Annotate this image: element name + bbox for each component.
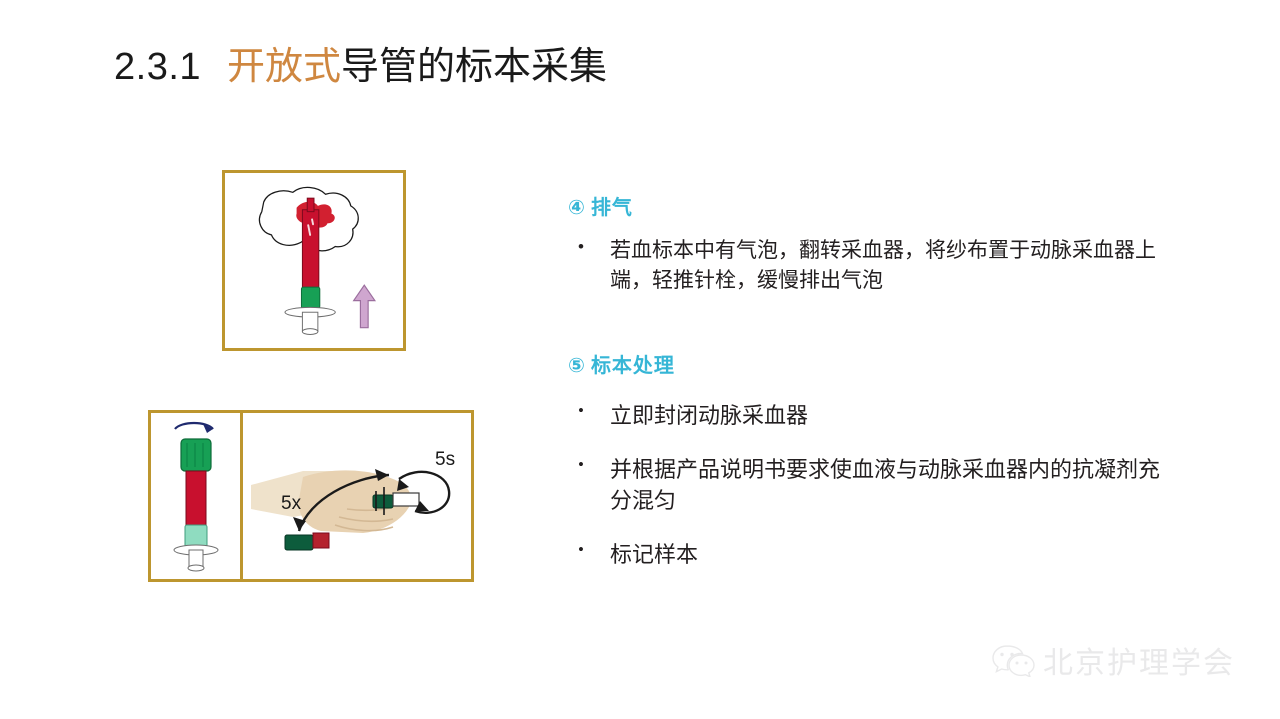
bullet-list-venting: 若血标本中有气泡，翻转采血器，将纱布置于动脉采血器上端，轻推针栓，缓慢排出气泡 xyxy=(568,236,1180,296)
section-heading-venting: ④排气 xyxy=(568,196,1180,220)
section-title-4: 排气 xyxy=(591,197,633,219)
hand-rolling-illustration: 5x 5s xyxy=(243,413,471,579)
watermark: 北京护理学会 xyxy=(992,638,1235,682)
wechat-eye-4 xyxy=(1025,662,1028,665)
section-handling: ⑤标本处理 立即封闭动脉采血器 并根据产品说明书要求使血液与动脉采血器内的抗凝剂… xyxy=(568,354,1180,572)
wechat-eye-1 xyxy=(1000,653,1003,656)
section-venting: ④排气 若血标本中有气泡，翻转采血器，将纱布置于动脉采血器上端，轻推针栓，缓慢排… xyxy=(568,196,1180,296)
plunger-head xyxy=(185,525,207,547)
section-marker-4: ④ xyxy=(568,197,586,219)
content-column: ④排气 若血标本中有气泡，翻转采血器，将纱布置于动脉采血器上端，轻推针栓，缓慢排… xyxy=(568,196,1180,571)
section-marker-5: ⑤ xyxy=(568,355,586,377)
list-item: 立即封闭动脉采血器 xyxy=(568,400,1180,432)
syringe-venting-illustration xyxy=(225,173,403,348)
title-rest: 导管的标本采集 xyxy=(341,46,607,88)
title-highlight: 开放式 xyxy=(227,46,341,88)
list-item: 标记样本 xyxy=(568,539,1180,571)
label-roll-seconds: 5s xyxy=(435,449,455,470)
watermark-text: 北京护理学会 xyxy=(1043,638,1235,682)
syringe-body-clear xyxy=(393,493,419,506)
syringe-cap xyxy=(181,439,211,471)
syringe-body-green-2 xyxy=(285,535,313,550)
figure-syringe-venting xyxy=(222,170,406,351)
panel-hand-rolling: 5x 5s xyxy=(243,413,471,579)
syringe-barrel-blood xyxy=(302,210,318,293)
panel-capped-syringe xyxy=(151,413,243,579)
plunger-head xyxy=(301,287,319,308)
figure-mixing-sample: 5x 5s xyxy=(148,410,474,582)
plunger-thumb-rest xyxy=(302,329,317,335)
capped-syringe-illustration xyxy=(151,413,240,579)
slide-canvas: 2.3.1开放式导管的标本采集 xyxy=(0,0,1280,719)
section-title-5: 标本处理 xyxy=(591,355,675,377)
label-roll-count: 5x xyxy=(281,493,302,514)
wechat-eye-3 xyxy=(1016,662,1019,665)
wechat-icon xyxy=(992,643,1036,677)
wechat-eye-2 xyxy=(1010,653,1013,656)
plunger-thumb-rest xyxy=(188,565,204,571)
wechat-bubble-front xyxy=(1009,655,1034,677)
syringe-blood-2 xyxy=(313,533,329,548)
syringe-nozzle xyxy=(307,198,314,212)
syringe-lower-left xyxy=(285,533,329,550)
up-arrow-icon xyxy=(354,285,375,328)
list-item: 若血标本中有气泡，翻转采血器，将纱布置于动脉采血器上端，轻推针栓，缓慢排出气泡 xyxy=(568,236,1180,296)
list-item: 并根据产品说明书要求使血液与动脉采血器内的抗凝剂充分混匀 xyxy=(568,454,1180,518)
section-heading-handling: ⑤标本处理 xyxy=(568,354,1180,378)
title-number: 2.3.1 xyxy=(114,46,201,88)
bullet-list-handling: 立即封闭动脉采血器 并根据产品说明书要求使血液与动脉采血器内的抗凝剂充分混匀 标… xyxy=(568,400,1180,572)
barrel-blood xyxy=(186,471,206,525)
wechat-bubble-back xyxy=(993,646,1023,672)
page-title: 2.3.1开放式导管的标本采集 xyxy=(114,46,607,90)
